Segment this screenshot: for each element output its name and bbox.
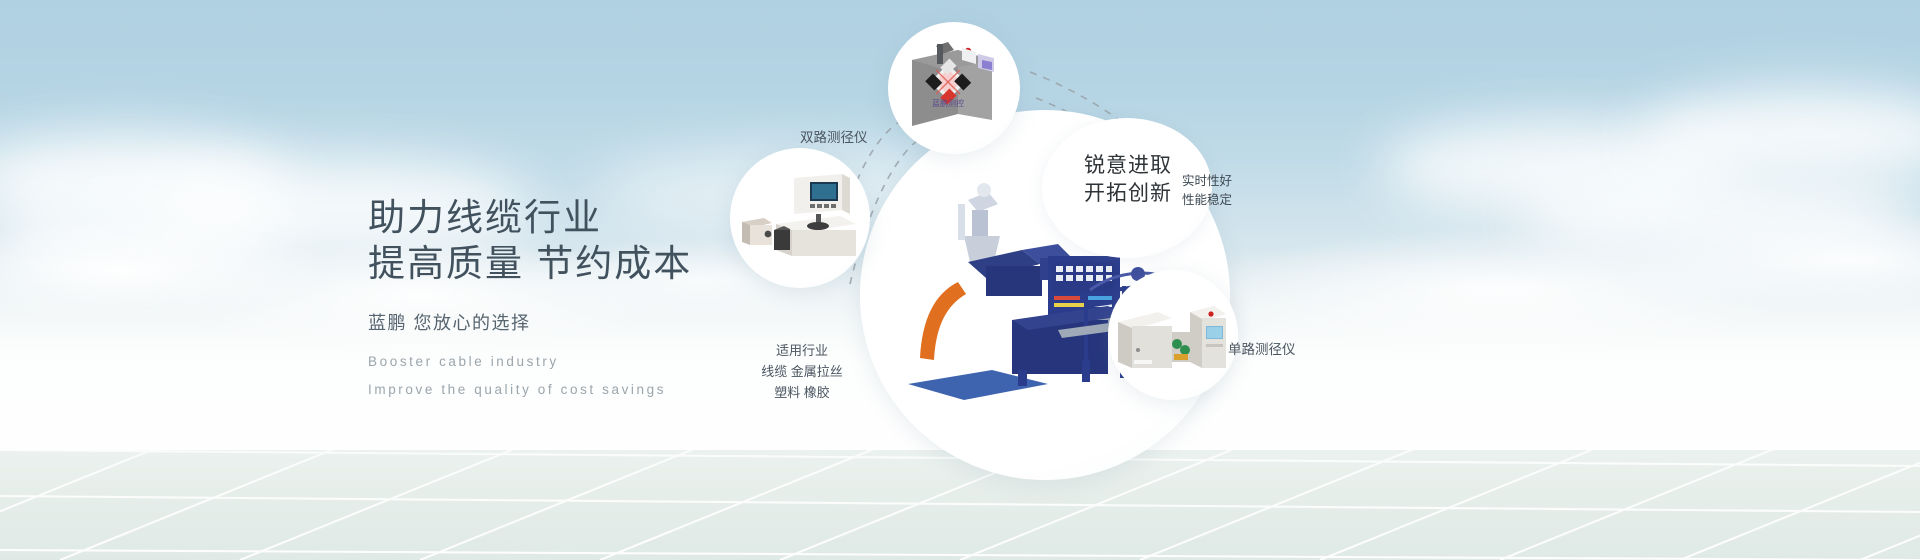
label-industry-line-1: 线缆 金属拉丝 (722, 361, 882, 382)
label-industry-line-2: 塑料 橡胶 (722, 382, 882, 403)
label-industry: 适用行业 线缆 金属拉丝 塑料 橡胶 (722, 340, 882, 403)
label-dual-gauge: 双路测径仪 (800, 128, 868, 147)
svg-text:蓝鹏测控: 蓝鹏测控 (932, 98, 964, 108)
label-performance-line-1: 实时性好 (1182, 172, 1232, 191)
label-industry-title: 适用行业 (722, 340, 882, 361)
label-performance: 实时性好 性能稳定 (1182, 172, 1232, 210)
cloud-icon (0, 195, 290, 275)
control-cabinet-artwork (738, 172, 864, 266)
label-performance-line-2: 性能稳定 (1182, 191, 1232, 210)
product-diagram: 蓝鹏测控 (700, 0, 1920, 560)
cloud-icon (0, 135, 290, 225)
dual-gauge-artwork: 蓝鹏测控 (896, 38, 1014, 142)
single-gauge-artwork (1114, 288, 1232, 380)
label-single-gauge: 单路测径仪 (1228, 340, 1296, 359)
slogan-line-2: 开拓创新 (1072, 180, 1184, 208)
banner-stage: 助力线缆行业 提高质量 节约成本 蓝鹏 您放心的选择 Booster cable… (0, 0, 1920, 560)
slogan-line-1: 锐意进取 (1072, 152, 1184, 180)
slogan-text: 锐意进取 开拓创新 (1072, 152, 1184, 208)
